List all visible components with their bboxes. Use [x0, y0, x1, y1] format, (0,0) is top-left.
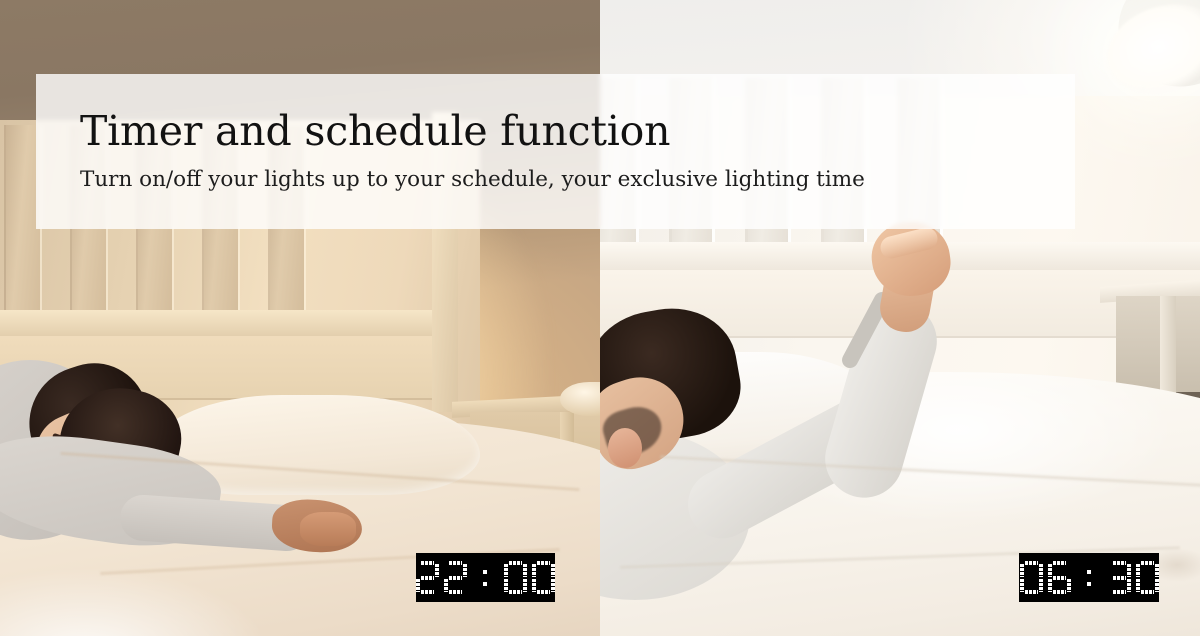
- promo-banner-image: Timer and schedule function Turn on/off …: [0, 0, 1200, 636]
- led-digit: [1020, 561, 1043, 594]
- led-colon-icon: [1087, 561, 1092, 594]
- night-clock-display: [416, 553, 555, 602]
- led-digit: [1136, 561, 1159, 594]
- led-digit: [504, 561, 527, 594]
- morning-nightstand-body: [1116, 296, 1200, 392]
- text-overlay-banner: Timer and schedule function Turn on/off …: [36, 74, 1075, 229]
- page-subtitle: Turn on/off your lights up to your sched…: [80, 167, 1075, 193]
- led-digit: [532, 561, 555, 594]
- morning-person-ear: [608, 428, 642, 468]
- led-digit: [416, 561, 439, 594]
- night-headboard-rail-top: [0, 310, 440, 336]
- led-colon-icon: [483, 561, 488, 594]
- page-title: Timer and schedule function: [80, 110, 1075, 153]
- night-clock-time: [416, 561, 555, 594]
- led-digit: [1108, 561, 1131, 594]
- morning-clock-display: [1019, 553, 1159, 602]
- morning-clock-time: [1020, 561, 1159, 594]
- night-person-fingers: [300, 512, 356, 546]
- led-digit: [1048, 561, 1071, 594]
- led-digit: [444, 561, 467, 594]
